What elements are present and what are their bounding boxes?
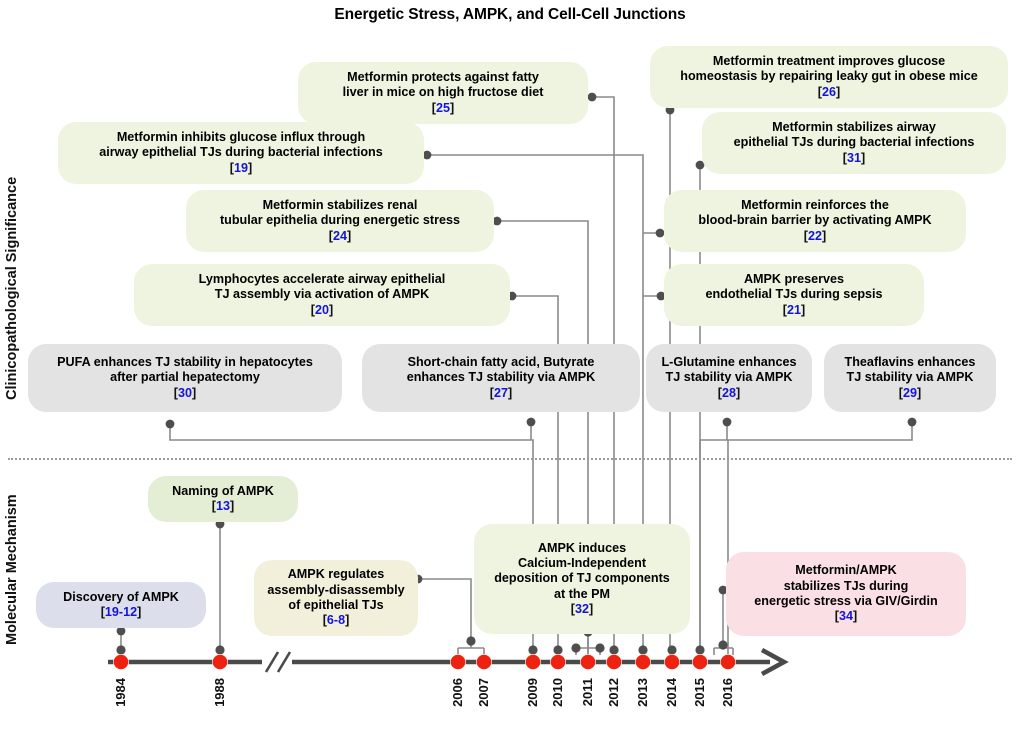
event-line: of epithelial TJs xyxy=(288,598,383,613)
event-line: deposition of TJ components xyxy=(494,571,670,586)
event-line: enhances TJ stability via AMPK xyxy=(407,370,596,385)
event-line: assembly-disassembly xyxy=(267,583,404,598)
event-ref: [22] xyxy=(804,229,826,244)
lane-label-molecular: Molecular Mechanism xyxy=(4,480,20,660)
event-line: Discovery of AMPK xyxy=(63,590,179,605)
event-card-6-8[interactable]: AMPK regulates assembly-disassembly of e… xyxy=(254,560,418,636)
event-line: TJ stability via AMPK xyxy=(666,370,793,385)
timeline-axis xyxy=(108,650,784,674)
year-label-2011: 2011 xyxy=(580,678,595,706)
event-line: stabilizes TJs during xyxy=(784,579,909,594)
event-ref: [21] xyxy=(783,303,805,318)
event-line: energetic stress via GIV/Girdin xyxy=(754,594,937,609)
event-line: at the PM xyxy=(554,587,610,602)
event-line: liver in mice on high fructose diet xyxy=(343,85,544,100)
event-line: Metformin stabilizes renal xyxy=(263,198,418,213)
event-card-21[interactable]: AMPK preserves endothelial TJs during se… xyxy=(664,264,924,326)
event-line: Metformin stabilizes airway xyxy=(772,120,936,135)
event-ref: [34] xyxy=(835,609,857,624)
event-line: Metformin treatment improves glucose xyxy=(713,54,945,69)
event-line: TJ stability via AMPK xyxy=(847,370,974,385)
event-ref: [13] xyxy=(212,499,234,514)
event-card-9-12[interactable]: Discovery of AMPK [19-12] xyxy=(36,582,206,628)
year-label-2009: 2009 xyxy=(525,678,540,707)
event-line: Metformin protects against fatty xyxy=(347,70,539,85)
event-card-32[interactable]: AMPK induces Calcium-Independent deposit… xyxy=(474,524,690,634)
event-card-13[interactable]: Naming of AMPK [13] xyxy=(148,476,298,522)
lane-label-clinicopathological: Clinicopathological Significance xyxy=(4,148,20,428)
lane-divider xyxy=(8,458,1012,460)
event-ref: [26] xyxy=(818,85,840,100)
event-ref: [20] xyxy=(311,303,333,318)
event-card-27[interactable]: Short-chain fatty acid, Butyrate enhance… xyxy=(362,344,640,412)
year-label-1984: 1984 xyxy=(113,678,128,707)
event-card-30[interactable]: PUFA enhances TJ stability in hepatocyte… xyxy=(28,344,342,412)
year-label-2010: 2010 xyxy=(550,678,565,707)
event-line: blood-brain barrier by activating AMPK xyxy=(698,213,931,228)
event-card-22[interactable]: Metformin reinforces the blood-brain bar… xyxy=(664,190,966,252)
event-ref: [28] xyxy=(718,386,740,401)
year-label-2016: 2016 xyxy=(720,678,735,707)
event-ref: [19-12] xyxy=(101,605,142,620)
event-line: epithelial TJs during bacterial infectio… xyxy=(734,135,975,150)
event-card-19[interactable]: Metformin inhibits glucose influx throug… xyxy=(58,122,424,184)
event-line: Metformin reinforces the xyxy=(741,198,889,213)
event-card-34[interactable]: Metformin/AMPK stabilizes TJs during ene… xyxy=(726,552,966,636)
year-label-2014: 2014 xyxy=(664,678,679,707)
event-line: homeostasis by repairing leaky gut in ob… xyxy=(680,69,977,84)
event-line: Metformin inhibits glucose influx throug… xyxy=(117,130,365,145)
event-line: AMPK preserves xyxy=(744,272,844,287)
event-line: Lymphocytes accelerate airway epithelial xyxy=(199,272,446,287)
year-label-2007: 2007 xyxy=(476,678,491,707)
event-line: tubular epithelia during energetic stres… xyxy=(220,213,460,228)
event-line: L-Glutamine enhances xyxy=(661,355,796,370)
event-line: after partial hepatectomy xyxy=(110,370,260,385)
event-card-24[interactable]: Metformin stabilizes renal tubular epith… xyxy=(186,190,494,252)
event-line: airway epithelial TJs during bacterial i… xyxy=(99,145,382,160)
event-line: Naming of AMPK xyxy=(172,484,274,499)
event-line: TJ assembly via activation of AMPK xyxy=(215,287,429,302)
event-line: Metformin/AMPK xyxy=(795,563,896,578)
event-ref: [6-8] xyxy=(323,613,350,628)
event-line: Short-chain fatty acid, Butyrate xyxy=(408,355,595,370)
event-line: AMPK induces xyxy=(538,541,626,556)
year-label-2015: 2015 xyxy=(692,678,707,707)
year-label-2013: 2013 xyxy=(635,678,650,707)
event-line: PUFA enhances TJ stability in hepatocyte… xyxy=(57,355,313,370)
event-card-31[interactable]: Metformin stabilizes airway epithelial T… xyxy=(702,112,1006,174)
event-card-20[interactable]: Lymphocytes accelerate airway epithelial… xyxy=(134,264,510,326)
event-line: endothelial TJs during sepsis xyxy=(705,287,882,302)
event-line: Theaflavins enhances xyxy=(845,355,976,370)
year-label-1988: 1988 xyxy=(212,678,227,707)
event-line: Calcium-Independent xyxy=(518,556,646,571)
event-ref: [19] xyxy=(230,161,252,176)
event-ref: [24] xyxy=(329,229,351,244)
event-ref: [25] xyxy=(432,101,454,116)
event-line: AMPK regulates xyxy=(288,567,385,582)
event-card-25[interactable]: Metformin protects against fatty liver i… xyxy=(298,62,588,124)
event-card-28[interactable]: L-Glutamine enhances TJ stability via AM… xyxy=(646,344,812,412)
event-ref: [27] xyxy=(490,386,512,401)
event-ref: [30] xyxy=(174,386,196,401)
event-ref: [29] xyxy=(899,386,921,401)
event-card-29[interactable]: Theaflavins enhances TJ stability via AM… xyxy=(824,344,996,412)
event-card-26[interactable]: Metformin treatment improves glucose hom… xyxy=(650,46,1008,108)
timeline-figure: Energetic Stress, AMPK, and Cell-Cell Ju… xyxy=(0,0,1020,735)
year-label-2006: 2006 xyxy=(450,678,465,707)
event-ref: [31] xyxy=(843,151,865,166)
year-label-2012: 2012 xyxy=(606,678,621,707)
event-ref: [32] xyxy=(571,602,593,617)
